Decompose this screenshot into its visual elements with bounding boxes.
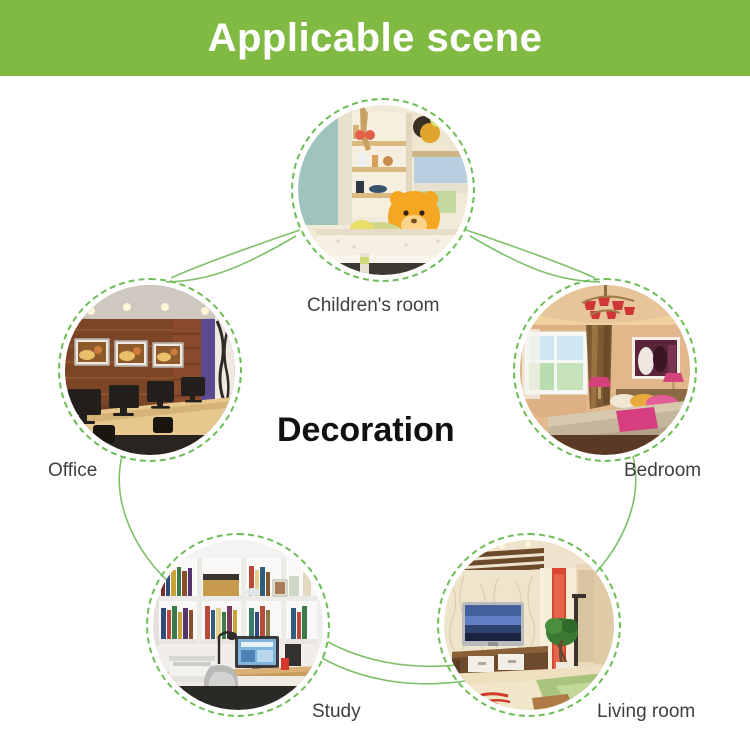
node-children-room[interactable] [291,98,475,282]
applicable-scene-infographic: Applicable scene [0,0,750,750]
node-label-children-room: Children's room [307,296,439,315]
node-office[interactable] [58,278,242,462]
study-ring [146,533,330,717]
bedroom-ring [513,278,697,462]
node-label-living-room: Living room [597,702,695,721]
node-study[interactable] [146,533,330,717]
page-title: Applicable scene [208,18,543,58]
living-room-ring [437,533,621,717]
diagram-stage: Children's room [0,76,750,750]
node-living-room[interactable] [437,533,621,717]
node-bedroom[interactable] [513,278,697,462]
center-title: Decoration [277,413,455,447]
node-label-office: Office [48,461,97,480]
node-label-study: Study [312,702,361,721]
office-ring [58,278,242,462]
children-room-ring [291,98,475,282]
header-banner: Applicable scene [0,0,750,76]
node-label-bedroom: Bedroom [624,461,701,480]
